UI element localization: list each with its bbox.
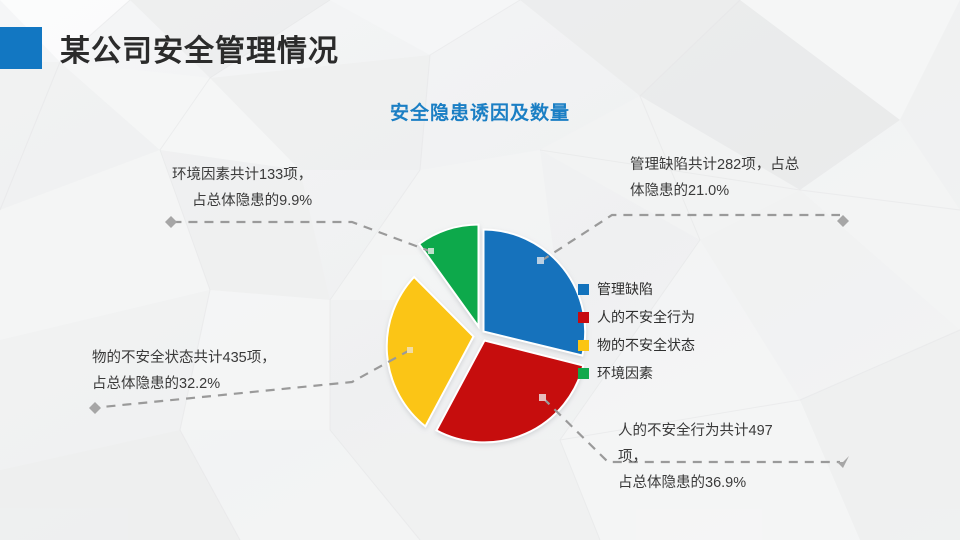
callout-environment: 环境因素共计133项， 占总体隐患的9.9% xyxy=(172,162,312,214)
callout-person: 人的不安全行为共计497 项， 占总体隐患的36.9% xyxy=(618,418,773,496)
pie-slice-manage xyxy=(484,230,586,356)
legend-label-person: 人的不安全行为 xyxy=(597,307,695,327)
page-title: 某公司安全管理情况 xyxy=(60,26,339,70)
header-accent-block xyxy=(0,27,42,69)
legend-item-object[interactable]: 物的不安全状态 xyxy=(578,331,695,359)
legend-item-manage[interactable]: 管理缺陷 xyxy=(578,275,695,303)
callout-object: 物的不安全状态共计435项， 占总体隐患的32.2% xyxy=(92,345,276,397)
page-header: 某公司安全管理情况 xyxy=(0,0,960,88)
callout-environment-line2: 占总体隐患的9.9% xyxy=(172,188,312,214)
legend-label-environment: 环境因素 xyxy=(597,363,653,383)
legend-label-manage: 管理缺陷 xyxy=(597,279,653,299)
callout-object-line2: 占总体隐患的32.2% xyxy=(92,371,276,397)
callout-manage-line1: 管理缺陷共计282项，占总 xyxy=(630,152,799,178)
callout-manage: 管理缺陷共计282项，占总 体隐患的21.0% xyxy=(630,152,799,204)
legend-swatch-object xyxy=(578,340,589,351)
legend-swatch-environment xyxy=(578,368,589,379)
legend-swatch-manage xyxy=(578,284,589,295)
callout-manage-line2: 体隐患的21.0% xyxy=(630,178,799,204)
legend-label-object: 物的不安全状态 xyxy=(597,335,695,355)
callout-person-line2: 项， xyxy=(618,444,773,470)
legend-swatch-person xyxy=(578,312,589,323)
legend-item-person[interactable]: 人的不安全行为 xyxy=(578,303,695,331)
chart-legend: 管理缺陷 人的不安全行为 物的不安全状态 环境因素 xyxy=(578,275,695,387)
legend-item-environment[interactable]: 环境因素 xyxy=(578,359,695,387)
callout-person-line1: 人的不安全行为共计497 xyxy=(618,418,773,444)
callout-person-line3: 占总体隐患的36.9% xyxy=(618,470,773,496)
callout-environment-line1: 环境因素共计133项， xyxy=(172,162,312,188)
chart-title: 安全隐患诱因及数量 xyxy=(0,98,960,125)
callout-object-line1: 物的不安全状态共计435项， xyxy=(92,345,276,371)
